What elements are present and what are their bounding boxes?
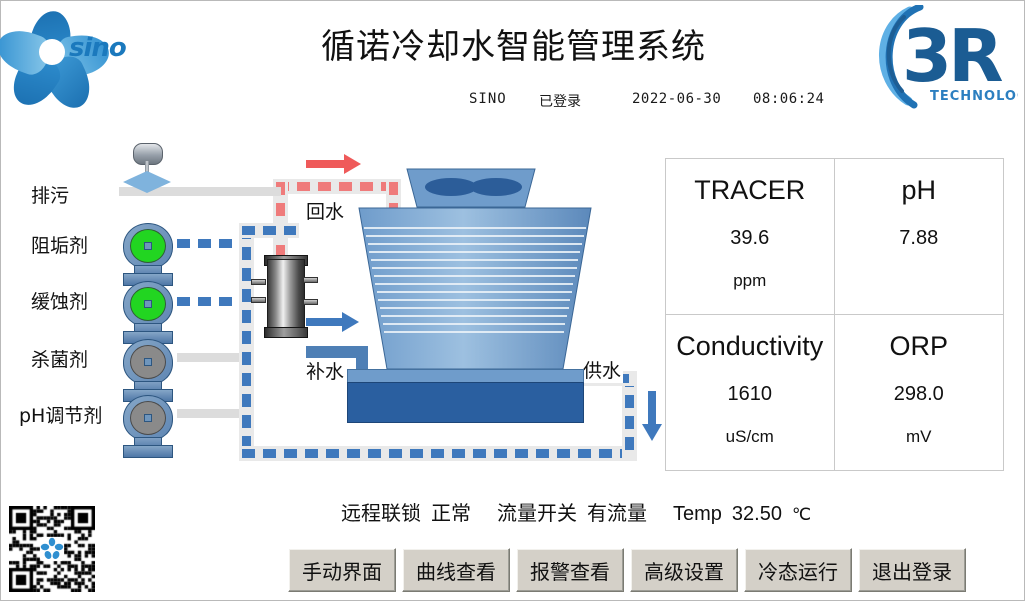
cooling-tower-body (357, 206, 593, 371)
orp-unit: mV (906, 427, 932, 447)
status-bar: 远程联锁 正常 流量开关 有流量 Temp 32.50 ℃ (341, 497, 1011, 526)
page-title: 循诺冷却水智能管理系统 (1, 19, 1025, 68)
hx-nozzle-left-upper (251, 279, 266, 285)
label-biocide: 杀菌剂 (31, 345, 88, 372)
alarm-view-button[interactable]: 报警查看 (516, 548, 624, 592)
pump-corrosion-inhibitor[interactable] (119, 281, 175, 343)
pump-base (123, 445, 173, 458)
supply-pipe-right (625, 374, 634, 458)
measurement-tile-tracer: TRACER 39.6 ppm (666, 159, 835, 315)
temp-label: Temp (673, 503, 722, 526)
qr-center-logo (40, 537, 64, 561)
tracer-value: 39.6 (730, 227, 769, 250)
orp-value: 298.0 (894, 383, 944, 406)
remote-interlock-value: 正常 (431, 497, 471, 526)
blowdown-valve-icon[interactable] (117, 143, 177, 193)
flow-switch-value: 有流量 (587, 497, 647, 526)
system-time: 08:06:24 (753, 91, 824, 107)
tracer-name: TRACER (694, 175, 805, 206)
conductivity-name: Conductivity (676, 331, 823, 362)
pump-scale-inhibitor[interactable] (119, 223, 175, 285)
temp-value: 32.50 (732, 503, 782, 526)
supply-pipe-topstub (242, 226, 296, 235)
login-status: 已登录 (539, 91, 581, 111)
cold-start-run-button[interactable]: 冷态运行 (744, 548, 852, 592)
label-makeup-water: 补水 (304, 357, 346, 384)
current-user: SINO (469, 91, 507, 107)
dose-line-corrosion-inhibitor (177, 297, 245, 306)
label-blowdown: 排污 (31, 181, 69, 208)
temp-unit: ℃ (792, 505, 811, 525)
measurement-tile-orp: ORP 298.0 mV (835, 315, 1004, 471)
hx-bottom-cap (264, 327, 308, 338)
remote-interlock-label: 远程联锁 (341, 497, 421, 526)
label-scale-inhibitor: 阻垢剂 (31, 231, 88, 258)
dose-line-ph-adjuster (177, 409, 245, 418)
pump-hub (144, 414, 152, 422)
advanced-settings-button[interactable]: 高级设置 (630, 548, 738, 592)
label-corrosion-inhibitor: 缓蚀剂 (31, 287, 88, 314)
pump-hub (144, 358, 152, 366)
dose-line-scale-inhibitor (177, 239, 245, 248)
measurement-tile-ph: pH 7.88 (835, 159, 1004, 315)
label-return-water: 回水 (304, 197, 346, 224)
cooling-tower-fan-deck (401, 167, 541, 209)
button-bar: 手动界面 曲线查看 报警查看 高级设置 冷态运行 退出登录 (288, 548, 966, 592)
pump-hub (144, 242, 152, 250)
hx-nozzle-right-lower (303, 299, 318, 305)
measurement-panel: TRACER 39.6 ppm pH 7.88 Conductivity 161… (665, 158, 1004, 471)
valve-right-cone (147, 171, 171, 193)
label-ph-adjuster: pH调节剂 (19, 401, 102, 428)
pump-biocide[interactable] (119, 339, 175, 401)
return-pipe-top (276, 182, 398, 191)
valve-left-cone (123, 171, 147, 193)
flow-switch-label: 流量开关 (497, 497, 577, 526)
supply-pipe-bottom (242, 449, 634, 458)
conductivity-value: 1610 (728, 383, 773, 406)
curve-view-button[interactable]: 曲线查看 (402, 548, 510, 592)
supply-pipe-left (242, 226, 251, 458)
logout-button[interactable]: 退出登录 (858, 548, 966, 592)
svg-text:TECHNOLOGY: TECHNOLOGY (930, 89, 1018, 104)
orp-name: ORP (889, 331, 948, 362)
system-date: 2022-06-30 (632, 91, 721, 107)
hx-nozzle-right-upper (303, 277, 318, 283)
cooling-tower-basin (347, 382, 584, 423)
heat-exchanger-icon[interactable] (263, 251, 307, 339)
return-pipe-connector (226, 187, 281, 196)
ph-value: 7.88 (899, 227, 938, 250)
hx-nozzle-left-lower (251, 297, 266, 303)
hmi-screen: sino 3R TECHNOLOGY 循诺冷却水智能管理系统 SINO 已登录 … (0, 0, 1025, 601)
hx-shell (267, 259, 305, 333)
conductivity-unit: uS/cm (726, 427, 774, 447)
dose-line-biocide (177, 353, 245, 362)
qr-code[interactable] (9, 506, 95, 592)
measurement-tile-conductivity: Conductivity 1610 uS/cm (666, 315, 835, 471)
pump-ph-adjuster[interactable] (119, 395, 175, 457)
tracer-unit: ppm (733, 271, 766, 291)
manual-interface-button[interactable]: 手动界面 (288, 548, 396, 592)
ph-name: pH (901, 175, 936, 206)
pump-hub (144, 300, 152, 308)
